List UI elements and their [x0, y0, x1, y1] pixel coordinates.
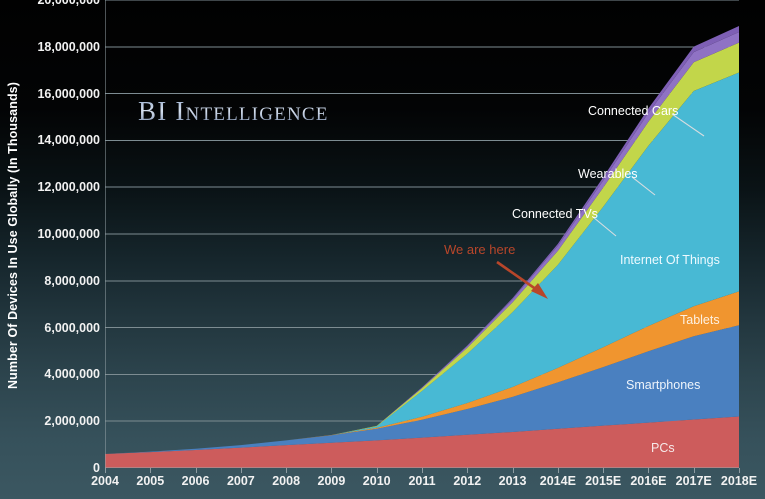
x-tick-label: 2016E — [630, 474, 666, 488]
plot-svg — [105, 0, 739, 468]
y-tick-label: 2,000,000 — [14, 414, 100, 428]
y-tick-label: 14,000,000 — [14, 133, 100, 147]
y-tick-label: 8,000,000 — [14, 274, 100, 288]
x-tick-label: 2005 — [136, 474, 164, 488]
y-tick-label: 6,000,000 — [14, 321, 100, 335]
x-tick-label: 2006 — [182, 474, 210, 488]
x-tick-mark — [196, 468, 197, 473]
x-tick-label: 2017E — [676, 474, 712, 488]
x-tick-label: 2007 — [227, 474, 255, 488]
x-tick-mark — [286, 468, 287, 473]
x-tick-label: 2015E — [585, 474, 621, 488]
we-are-here-annotation: We are here — [444, 242, 515, 257]
x-tick-mark — [648, 468, 649, 473]
y-tick-label: 0 — [14, 461, 100, 475]
x-tick-label: 2013 — [499, 474, 527, 488]
y-tick-label: 20,000,000 — [14, 0, 100, 7]
y-axis-tick-labels: 02,000,0004,000,0006,000,0008,000,00010,… — [10, 0, 100, 499]
x-tick-mark — [603, 468, 604, 473]
x-tick-mark — [694, 468, 695, 473]
y-tick-label: 16,000,000 — [14, 87, 100, 101]
x-tick-label: 2009 — [318, 474, 346, 488]
x-tick-label: 2011 — [408, 474, 435, 488]
x-tick-mark — [739, 468, 740, 473]
x-tick-label: 2008 — [272, 474, 300, 488]
x-tick-mark — [150, 468, 151, 473]
x-tick-mark — [422, 468, 423, 473]
y-tick-label: 10,000,000 — [14, 227, 100, 241]
x-tick-mark — [513, 468, 514, 473]
x-tick-mark — [558, 468, 559, 473]
y-tick-label: 18,000,000 — [14, 40, 100, 54]
stacked-area-chart: Number Of Devices In Use Globally (In Th… — [0, 0, 765, 499]
x-tick-label: 2014E — [540, 474, 576, 488]
x-tick-mark — [105, 468, 106, 473]
x-tick-label: 2018E — [721, 474, 757, 488]
x-tick-mark — [241, 468, 242, 473]
x-tick-mark — [467, 468, 468, 473]
x-tick-label: 2012 — [453, 474, 481, 488]
y-tick-label: 12,000,000 — [14, 180, 100, 194]
x-tick-label: 2010 — [363, 474, 391, 488]
x-axis: 2004200520062007200820092010201120122013… — [105, 468, 739, 499]
x-tick-mark — [331, 468, 332, 473]
series-areas — [105, 26, 739, 468]
x-tick-mark — [377, 468, 378, 473]
plot-area — [105, 0, 739, 468]
y-tick-label: 4,000,000 — [14, 367, 100, 381]
x-tick-label: 2004 — [91, 474, 119, 488]
